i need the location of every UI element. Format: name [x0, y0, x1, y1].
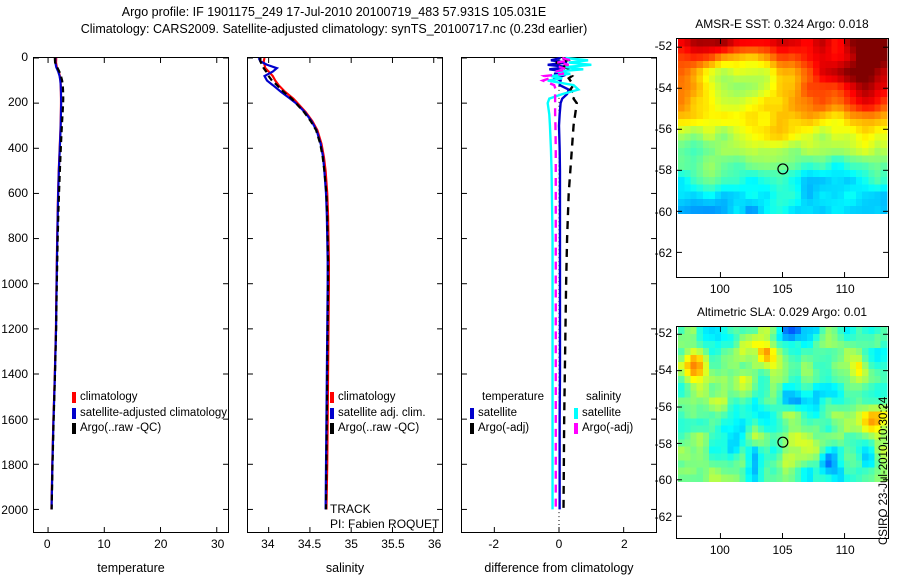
depth-tick-400: 400 — [8, 141, 28, 155]
legend-row: satellite adj. clim. — [330, 406, 426, 422]
lat-tick--56: -56 — [655, 400, 672, 414]
lon-tick-100: 100 — [710, 543, 730, 557]
lat-tick--62: -62 — [655, 510, 672, 524]
figure-title-line2: Climatology: CARS2009. Satellite-adjuste… — [0, 22, 668, 36]
legend-spacer — [574, 392, 582, 403]
depth-tick-1200: 1200 — [1, 322, 28, 336]
lat-tick--60: -60 — [655, 473, 672, 487]
difference-profile-panel — [461, 57, 657, 533]
legend-row: satellite — [574, 406, 633, 422]
track-label: TRACK — [330, 502, 439, 517]
x-tick-36: 36 — [428, 537, 441, 551]
x-tick-0: 0 — [556, 537, 563, 551]
salinity-profile-panel — [247, 57, 443, 533]
legend-label: Argo(-adj) — [582, 421, 633, 437]
legend-column: temperaturesatelliteArgo(-adj) — [470, 390, 544, 437]
legend-label: Argo(..raw -QC) — [338, 421, 419, 437]
depth-tick-200: 200 — [8, 95, 28, 109]
x-tick-35: 35 — [345, 537, 358, 551]
sla-map-image — [677, 327, 888, 538]
sst-map-title: AMSR-E SST: 0.324 Argo: 0.018 — [675, 17, 889, 31]
lat-tick--58: -58 — [655, 437, 672, 451]
sla-map-title: Altimetric SLA: 0.029 Argo: 0.01 — [675, 305, 889, 319]
salinity-panel-legend: climatologysatellite adj. clim.Argo(..ra… — [330, 390, 426, 437]
depth-tick-1800: 1800 — [1, 458, 28, 472]
legend-label: climatology — [80, 390, 138, 406]
legend-swatch-satellite-adjusted-climatology — [72, 408, 76, 419]
legend-column: salinitysatelliteArgo(-adj) — [574, 390, 633, 437]
depth-tick-2000: 2000 — [1, 503, 28, 517]
legend-label: satellite adj. clim. — [338, 406, 426, 422]
figure-canvas: Argo profile: IF 1901175_249 17-Jul-2010… — [0, 0, 900, 580]
amsr-e-sst-map-panel — [676, 38, 889, 278]
legend-label: Argo(-adj) — [478, 421, 529, 437]
legend-row: satellite — [470, 406, 544, 422]
legend-row: Argo(..raw -QC) — [72, 421, 227, 437]
lon-tick-105: 105 — [772, 543, 792, 557]
legend-swatch — [470, 423, 474, 434]
depth-tick-800: 800 — [8, 231, 28, 245]
temperature-panel-legend: climatologysatellite-adjusted climatolog… — [72, 390, 227, 437]
legend-label: Argo(..raw -QC) — [80, 421, 161, 437]
x-tick-35.5: 35.5 — [381, 537, 404, 551]
legend-header: salinity — [586, 390, 621, 406]
lon-tick-100: 100 — [710, 282, 730, 296]
legend-swatch-climatology — [72, 392, 76, 403]
altimetric-sla-map-panel — [676, 326, 889, 539]
legend-swatch — [470, 408, 474, 419]
lat-tick--54: -54 — [655, 363, 672, 377]
lon-tick-110: 110 — [836, 282, 855, 296]
x-tick-20: 20 — [154, 537, 167, 551]
figure-title-line1: Argo profile: IF 1901175_249 17-Jul-2010… — [0, 5, 668, 19]
legend-swatch-climatology — [330, 392, 334, 403]
legend-swatch — [574, 423, 578, 434]
legend-label: climatology — [338, 390, 396, 406]
legend-label: satellite-adjusted climatology — [80, 406, 227, 422]
difference-panel-legend: temperaturesatelliteArgo(-adj)salinitysa… — [470, 390, 633, 437]
legend-row: Argo(-adj) — [574, 421, 633, 437]
salinity-axis-label: salinity — [247, 561, 443, 575]
x-tick-10: 10 — [97, 537, 110, 551]
depth-tick-1400: 1400 — [1, 367, 28, 381]
depth-tick-600: 600 — [8, 186, 28, 200]
temperature-plot-area — [34, 58, 228, 532]
temperature-axis-label: temperature — [33, 561, 229, 575]
lat-tick--60: -60 — [655, 205, 672, 219]
lon-tick-110: 110 — [836, 543, 855, 557]
legend-label: satellite — [582, 406, 621, 422]
lat-tick--54: -54 — [655, 81, 672, 95]
legend-header: temperature — [482, 390, 544, 406]
x-tick--2: -2 — [488, 537, 499, 551]
lat-tick--58: -58 — [655, 163, 672, 177]
csiro-timestamp: CSIRO 23-Jul-2010 10:30:24 — [878, 397, 890, 545]
legend-swatch-argo---raw--qc- — [72, 423, 76, 434]
x-tick-34: 34 — [261, 537, 274, 551]
pi-label: PI: Fabien ROQUET — [330, 517, 439, 532]
legend-swatch-argo---raw--qc- — [330, 423, 334, 434]
legend-swatch — [574, 408, 578, 419]
x-tick-30: 30 — [211, 537, 224, 551]
depth-tick-1000: 1000 — [1, 277, 28, 291]
legend-row: Argo(..raw -QC) — [330, 421, 426, 437]
sst-map-image — [677, 39, 888, 277]
lon-tick-105: 105 — [772, 282, 792, 296]
depth-tick-0: 0 — [21, 50, 28, 64]
difference-plot-area — [462, 58, 656, 532]
legend-swatch-satellite-adj--clim- — [330, 408, 334, 419]
x-tick-0: 0 — [44, 537, 51, 551]
x-tick-2: 2 — [621, 537, 628, 551]
lat-tick--62: -62 — [655, 246, 672, 260]
x-tick-34.5: 34.5 — [298, 537, 321, 551]
depth-tick-1600: 1600 — [1, 413, 28, 427]
lat-tick--52: -52 — [655, 326, 672, 340]
legend-label: satellite — [478, 406, 517, 422]
legend-row: climatology — [330, 390, 426, 406]
lat-tick--56: -56 — [655, 122, 672, 136]
temperature-profile-panel — [33, 57, 229, 533]
track-annotation: TRACK PI: Fabien ROQUET — [330, 502, 439, 532]
legend-row: climatology — [72, 390, 227, 406]
legend-spacer — [470, 392, 478, 403]
legend-row: Argo(-adj) — [470, 421, 544, 437]
legend-row: satellite-adjusted climatology — [72, 406, 227, 422]
lat-tick--52: -52 — [655, 39, 672, 53]
salinity-plot-area — [248, 58, 442, 532]
difference-axis-label: difference from climatology — [461, 561, 657, 575]
